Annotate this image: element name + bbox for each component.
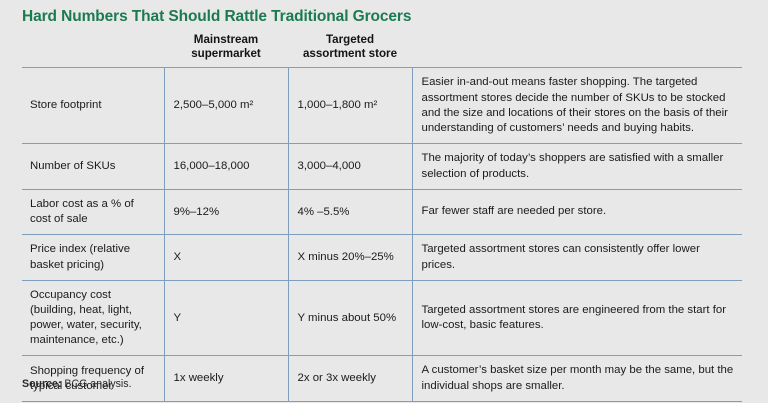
cell-targeted: Y minus about 50% — [288, 280, 412, 356]
row-label: Labor cost as a % of cost of sale — [22, 189, 164, 234]
cell-targeted: 4% –5.5% — [288, 189, 412, 234]
table-row: Occupancy cost (building, heat, light, p… — [22, 280, 742, 356]
column-header-metric — [22, 33, 164, 68]
cell-description: A customer’s basket size per month may b… — [412, 356, 742, 402]
cell-mainstream: Y — [164, 280, 288, 356]
column-header-description — [412, 33, 742, 68]
table-row: Price index (relative basket pricing) X … — [22, 235, 742, 281]
cell-description: Targeted assortment stores are engineere… — [412, 280, 742, 356]
table-row: Labor cost as a % of cost of sale 9%–12%… — [22, 189, 742, 234]
figure-container: Hard Numbers That Should Rattle Traditio… — [0, 0, 768, 403]
cell-description: Easier in-and-out means faster shopping.… — [412, 68, 742, 144]
comparison-table: Mainstream supermarket Targeted assortme… — [22, 33, 742, 402]
cell-mainstream: 9%–12% — [164, 189, 288, 234]
header-row: Mainstream supermarket Targeted assortme… — [22, 33, 742, 68]
cell-description: Targeted assortment stores can consisten… — [412, 235, 742, 281]
cell-mainstream: 16,000–18,000 — [164, 144, 288, 190]
source-label: Source: — [22, 378, 61, 390]
cell-description: The majority of today’s shoppers are sat… — [412, 144, 742, 190]
table-row: Store footprint 2,500–5,000 m² 1,000–1,8… — [22, 68, 742, 144]
table-body: Store footprint 2,500–5,000 m² 1,000–1,8… — [22, 68, 742, 402]
cell-mainstream: 1x weekly — [164, 356, 288, 402]
column-header-mainstream-line2: supermarket — [170, 47, 282, 61]
row-label: Number of SKUs — [22, 144, 164, 190]
table-header: Mainstream supermarket Targeted assortme… — [22, 33, 742, 68]
column-header-targeted-line2: assortment store — [294, 47, 406, 61]
figure-title: Hard Numbers That Should Rattle Traditio… — [22, 8, 411, 26]
cell-mainstream: X — [164, 235, 288, 281]
column-header-targeted-assortment-store: Targeted assortment store — [288, 33, 412, 68]
cell-targeted: X minus 20%–25% — [288, 235, 412, 281]
row-label: Price index (relative basket pricing) — [22, 235, 164, 281]
row-label: Occupancy cost (building, heat, light, p… — [22, 280, 164, 356]
cell-targeted: 3,000–4,000 — [288, 144, 412, 190]
column-header-targeted-line1: Targeted — [294, 33, 406, 47]
cell-targeted: 2x or 3x weekly — [288, 356, 412, 402]
cell-targeted: 1,000–1,800 m² — [288, 68, 412, 144]
column-header-mainstream-supermarket: Mainstream supermarket — [164, 33, 288, 68]
table-row: Number of SKUs 16,000–18,000 3,000–4,000… — [22, 144, 742, 190]
cell-description: Far fewer staff are needed per store. — [412, 189, 742, 234]
row-label: Store footprint — [22, 68, 164, 144]
data-table-wrapper: Mainstream supermarket Targeted assortme… — [22, 33, 742, 402]
source-note: Source: BCG analysis. — [22, 378, 132, 390]
column-header-mainstream-line1: Mainstream — [170, 33, 282, 47]
source-value: BCG analysis. — [61, 378, 131, 390]
cell-mainstream: 2,500–5,000 m² — [164, 68, 288, 144]
